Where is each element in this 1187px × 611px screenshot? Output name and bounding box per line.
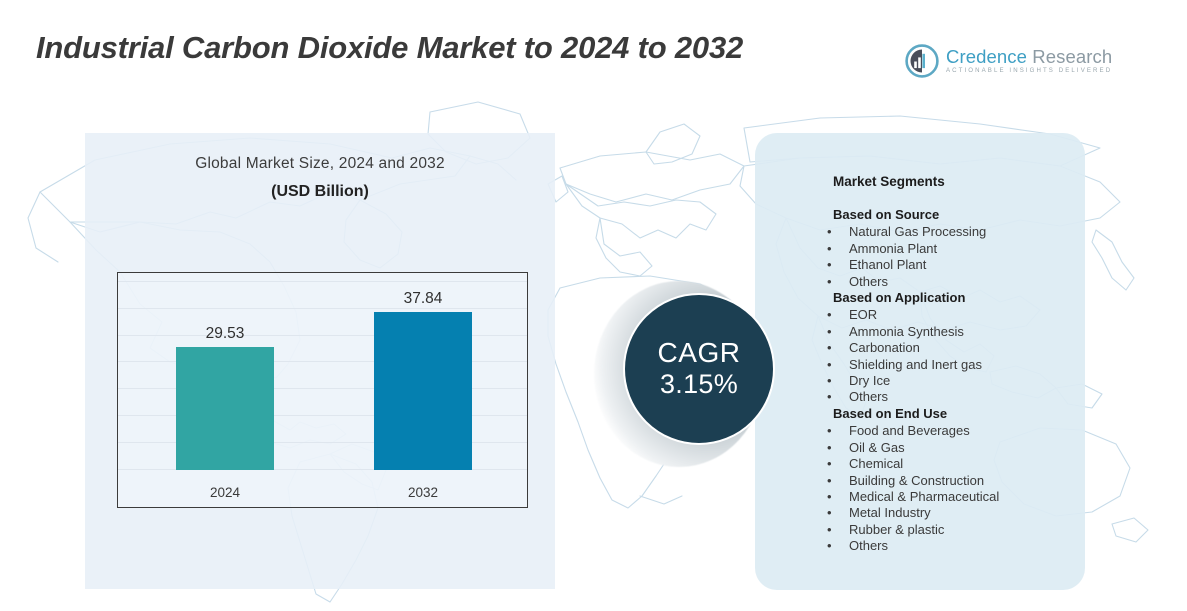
- segment-list-item: •Rubber & plastic: [827, 522, 1085, 538]
- bullet-icon: •: [827, 224, 832, 240]
- brand-name-secondary: Research: [1032, 46, 1112, 67]
- segments-panel: Market Segments Based on Source•Natural …: [755, 133, 1085, 590]
- bullet-icon: •: [827, 241, 832, 257]
- bar-2024[interactable]: [176, 347, 274, 470]
- brand-tagline: Actionable Insights Delivered: [946, 68, 1112, 74]
- segment-list-item: •EOR: [827, 307, 1085, 323]
- bar-category-2032: 2032: [343, 485, 503, 500]
- bullet-icon: •: [827, 307, 832, 323]
- chart-panel: Global Market Size, 2024 and 2032 (USD B…: [85, 133, 555, 589]
- segment-item-label: Medical & Pharmaceutical: [833, 489, 999, 505]
- bar-chart: 29.53 2024 37.84 2032: [117, 272, 528, 508]
- segment-item-label: Natural Gas Processing: [833, 224, 986, 240]
- segment-list-item: •Food and Beverages: [827, 423, 1085, 439]
- bullet-icon: •: [827, 473, 832, 489]
- segment-list-item: •Metal Industry: [827, 505, 1085, 521]
- cagr-circle: CAGR 3.15%: [623, 293, 775, 445]
- bullet-icon: •: [827, 373, 832, 389]
- chart-heading: Global Market Size, 2024 and 2032: [85, 155, 555, 173]
- segment-list-item: •Others: [827, 274, 1085, 290]
- page-title: Industrial Carbon Dioxide Market to 2024…: [36, 30, 743, 66]
- segment-item-label: EOR: [833, 307, 877, 323]
- bullet-icon: •: [827, 440, 832, 456]
- brand-name: Credence Research: [946, 48, 1112, 67]
- segment-list-item: •Others: [827, 389, 1085, 405]
- bar-chart-circle-icon: [905, 44, 939, 78]
- segment-list-item: •Ammonia Plant: [827, 241, 1085, 257]
- bullet-icon: •: [827, 357, 832, 373]
- segment-list-item: •Ethanol Plant: [827, 257, 1085, 273]
- bullet-icon: •: [827, 423, 832, 439]
- segment-item-label: Dry Ice: [833, 373, 890, 389]
- bullet-icon: •: [827, 324, 832, 340]
- bar-value-2032: 37.84: [343, 290, 503, 308]
- segment-list-item: •Shielding and Inert gas: [827, 357, 1085, 373]
- bullet-icon: •: [827, 340, 832, 356]
- segment-item-label: Chemical: [833, 456, 903, 472]
- brand-logo: Credence Research Actionable Insights De…: [905, 44, 1112, 78]
- segment-list-item: •Dry Ice: [827, 373, 1085, 389]
- bullet-icon: •: [827, 505, 832, 521]
- segment-list-item: •Building & Construction: [827, 473, 1085, 489]
- segment-group-heading: Based on End Use: [827, 406, 1085, 422]
- brand-text: Credence Research Actionable Insights De…: [946, 48, 1112, 75]
- bullet-icon: •: [827, 538, 832, 554]
- segment-item-label: Others: [833, 389, 888, 405]
- segment-list-item: •Medical & Pharmaceutical: [827, 489, 1085, 505]
- segment-list-item: •Natural Gas Processing: [827, 224, 1085, 240]
- segment-item-label: Ammonia Synthesis: [833, 324, 964, 340]
- segment-list-item: •Chemical: [827, 456, 1085, 472]
- segment-list-item: •Carbonation: [827, 340, 1085, 356]
- segment-item-label: Oil & Gas: [833, 440, 905, 456]
- cagr-label: CAGR: [658, 338, 741, 367]
- segment-item-label: Shielding and Inert gas: [833, 357, 982, 373]
- segment-list-item: •Oil & Gas: [827, 440, 1085, 456]
- segment-item-label: Rubber & plastic: [833, 522, 944, 538]
- brand-name-primary: Credence: [946, 46, 1027, 67]
- cagr-value: 3.15%: [660, 368, 738, 400]
- segment-item-label: Building & Construction: [833, 473, 984, 489]
- bar-value-2024: 29.53: [145, 325, 305, 343]
- segment-item-label: Others: [833, 538, 888, 554]
- gridline: [118, 281, 527, 282]
- bullet-icon: •: [827, 389, 832, 405]
- segment-group-heading: Based on Application: [827, 290, 1085, 306]
- segment-list-item: •Ammonia Synthesis: [827, 324, 1085, 340]
- segment-item-label: Others: [833, 274, 888, 290]
- segments-title: Market Segments: [833, 174, 945, 189]
- segment-item-label: Ammonia Plant: [833, 241, 937, 257]
- segments-list: Based on Source•Natural Gas Processing•A…: [827, 207, 1085, 555]
- bar-2032[interactable]: [374, 312, 472, 470]
- chart-subheading: (USD Billion): [85, 183, 555, 201]
- segment-item-label: Food and Beverages: [833, 423, 970, 439]
- segment-item-label: Carbonation: [833, 340, 920, 356]
- segment-list-item: •Others: [827, 538, 1085, 554]
- bar-category-2024: 2024: [145, 485, 305, 500]
- segment-item-label: Ethanol Plant: [833, 257, 926, 273]
- segment-group-heading: Based on Source: [827, 207, 1085, 223]
- cagr-badge: CAGR 3.15%: [594, 277, 788, 471]
- bullet-icon: •: [827, 489, 832, 505]
- segment-item-label: Metal Industry: [833, 505, 931, 521]
- page-header: Industrial Carbon Dioxide Market to 2024…: [0, 0, 1187, 95]
- bullet-icon: •: [827, 522, 832, 538]
- bullet-icon: •: [827, 456, 832, 472]
- bullet-icon: •: [827, 257, 832, 273]
- bullet-icon: •: [827, 274, 832, 290]
